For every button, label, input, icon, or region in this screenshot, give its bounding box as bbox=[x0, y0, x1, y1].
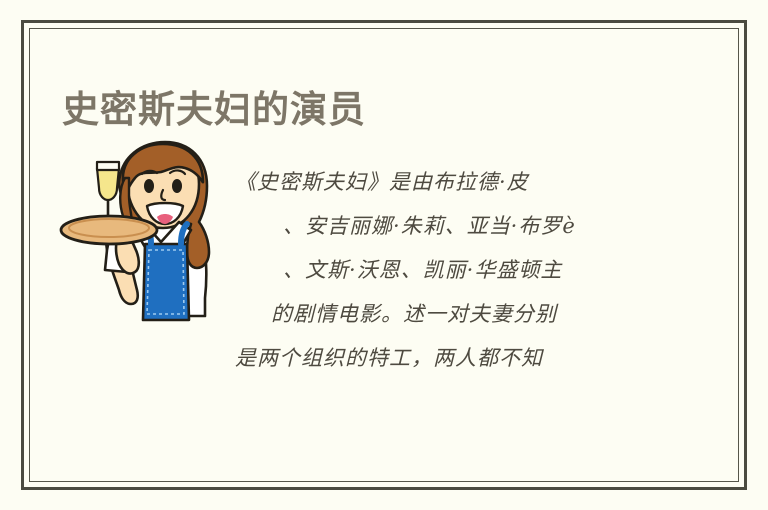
body-line: 是两个组织的特工，两人都不知 bbox=[235, 336, 713, 380]
article-page: 史密斯夫妇的演员 bbox=[0, 0, 768, 510]
waitress-with-tray-illustration bbox=[57, 138, 217, 323]
article-body: 《史密斯夫妇》是由布拉德·皮 、安吉丽娜·朱莉、亚当·布罗è 、文斯·沃恩、凯丽… bbox=[235, 160, 713, 380]
article-content: 《史密斯夫妇》是由布拉德·皮 、安吉丽娜·朱莉、亚当·布罗è 、文斯·沃恩、凯丽… bbox=[29, 130, 739, 482]
body-line: 、安吉丽娜·朱莉、亚当·布罗è bbox=[235, 204, 713, 248]
body-line: 的剧情电影。述一对夫妻分别 bbox=[235, 292, 713, 336]
body-line: 《史密斯夫妇》是由布拉德·皮 bbox=[235, 160, 713, 204]
body-line: 、文斯·沃恩、凯丽·华盛顿主 bbox=[235, 248, 713, 292]
page-title: 史密斯夫妇的演员 bbox=[62, 87, 366, 133]
